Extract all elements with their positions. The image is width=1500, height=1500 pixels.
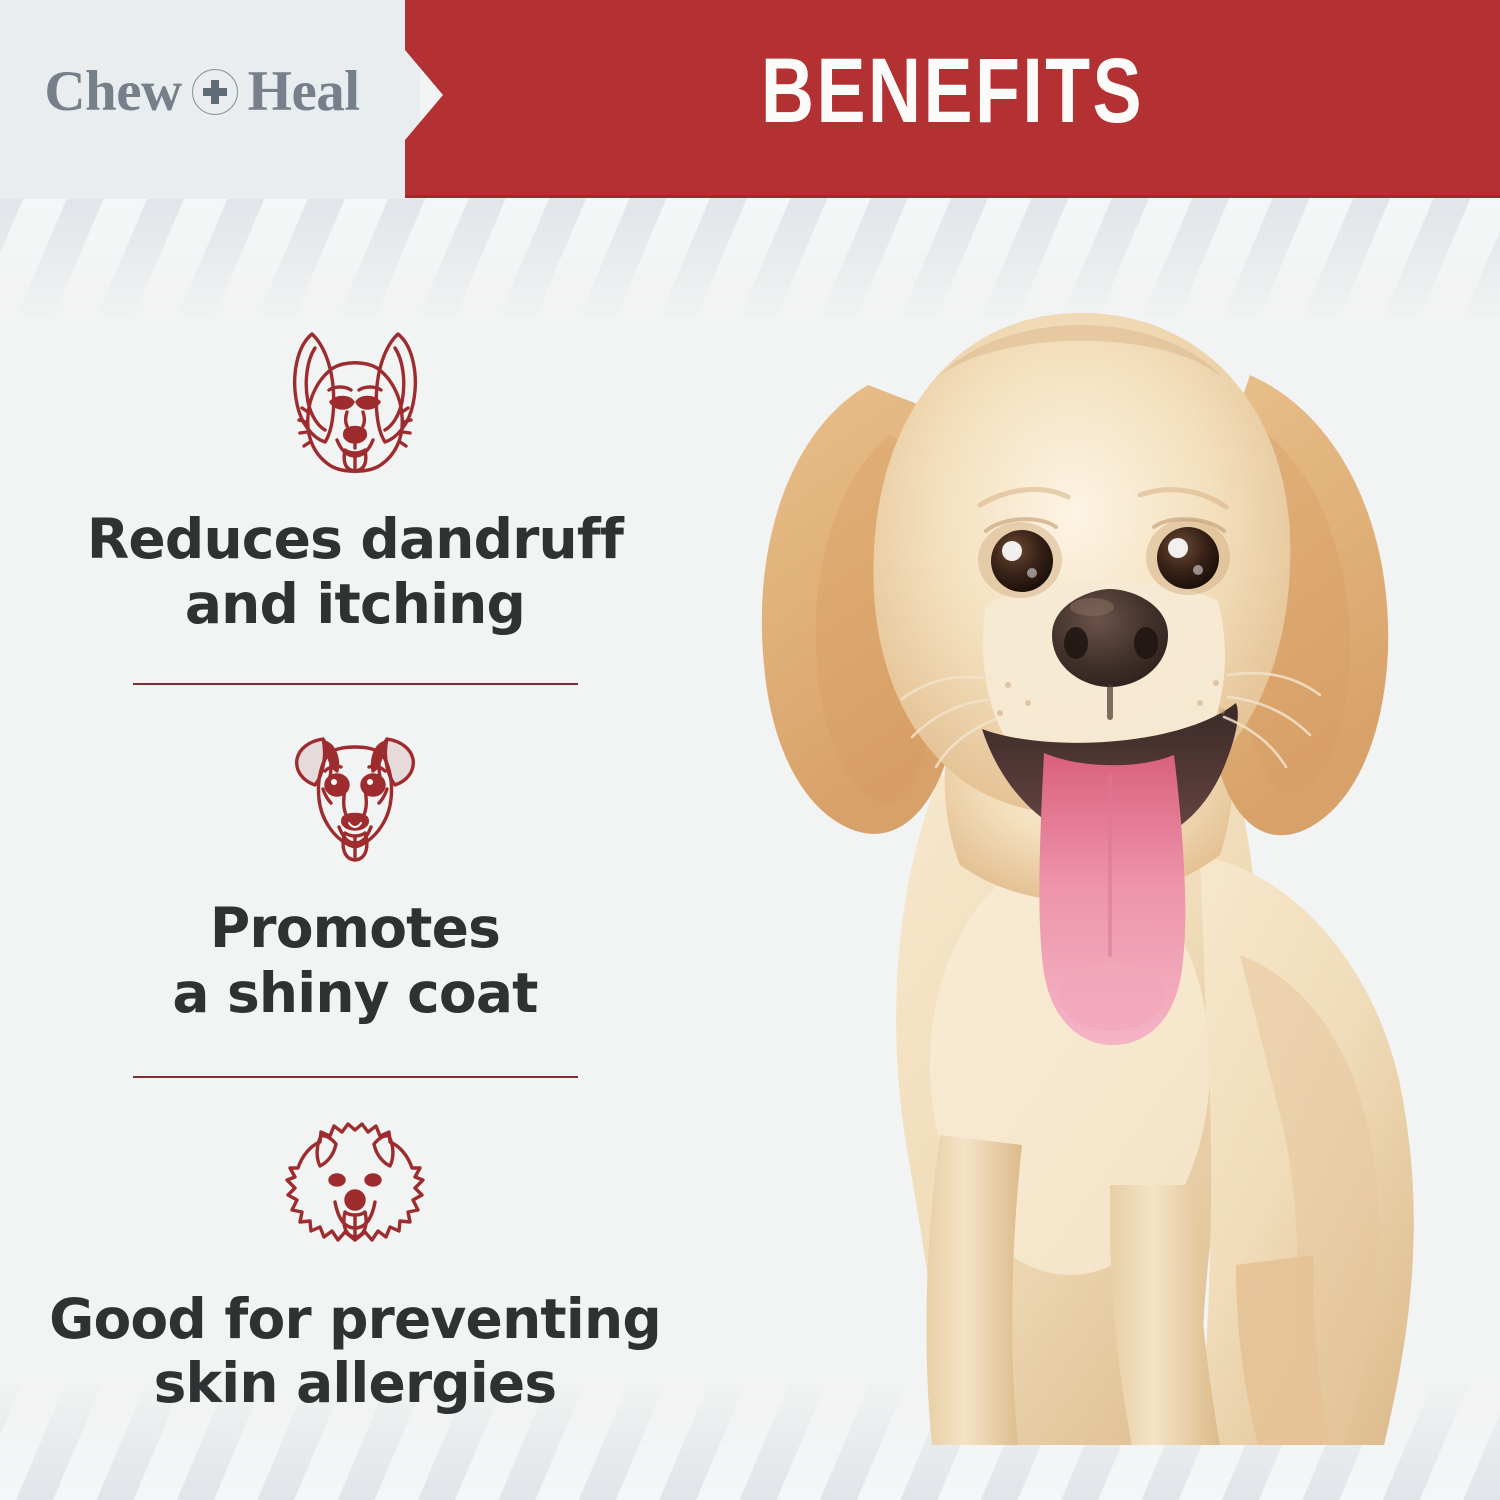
benefits-list: Reduces dandruff and itching <box>0 320 710 1416</box>
benefit-item-1: Reduces dandruff and itching <box>0 320 710 637</box>
puppy-photo <box>640 255 1500 1445</box>
terrier-dog-face-icon <box>279 727 431 872</box>
benefit-label-3: Good for preventing skin allergies <box>49 1287 661 1417</box>
brand-logo[interactable]: Chew Heal <box>44 63 359 120</box>
benefit-item-2: Promotes a shiny coat <box>0 727 710 1026</box>
page-title: BENEFITS <box>761 39 1144 144</box>
logo-word-heal: Heal <box>248 63 360 120</box>
logo-word-chew: Chew <box>44 63 181 120</box>
benefits-infographic: Chew Heal BENEFITS <box>0 0 1500 1500</box>
fluffy-dog-face-icon <box>280 1120 430 1265</box>
benefit-divider-2 <box>133 1076 578 1078</box>
benefit-divider-1 <box>133 683 578 685</box>
benefit-label-1: Reduces dandruff and itching <box>87 507 623 637</box>
benefit-label-2: Promotes a shiny coat <box>172 896 537 1026</box>
benefit-item-3: Good for preventing skin allergies <box>0 1120 710 1417</box>
corgi-dog-face-icon <box>271 320 439 485</box>
header: Chew Heal BENEFITS <box>0 0 1500 200</box>
benefits-banner: BENEFITS <box>405 0 1500 198</box>
plus-in-circle-icon <box>192 69 238 115</box>
logo-panel: Chew Heal <box>0 0 420 199</box>
